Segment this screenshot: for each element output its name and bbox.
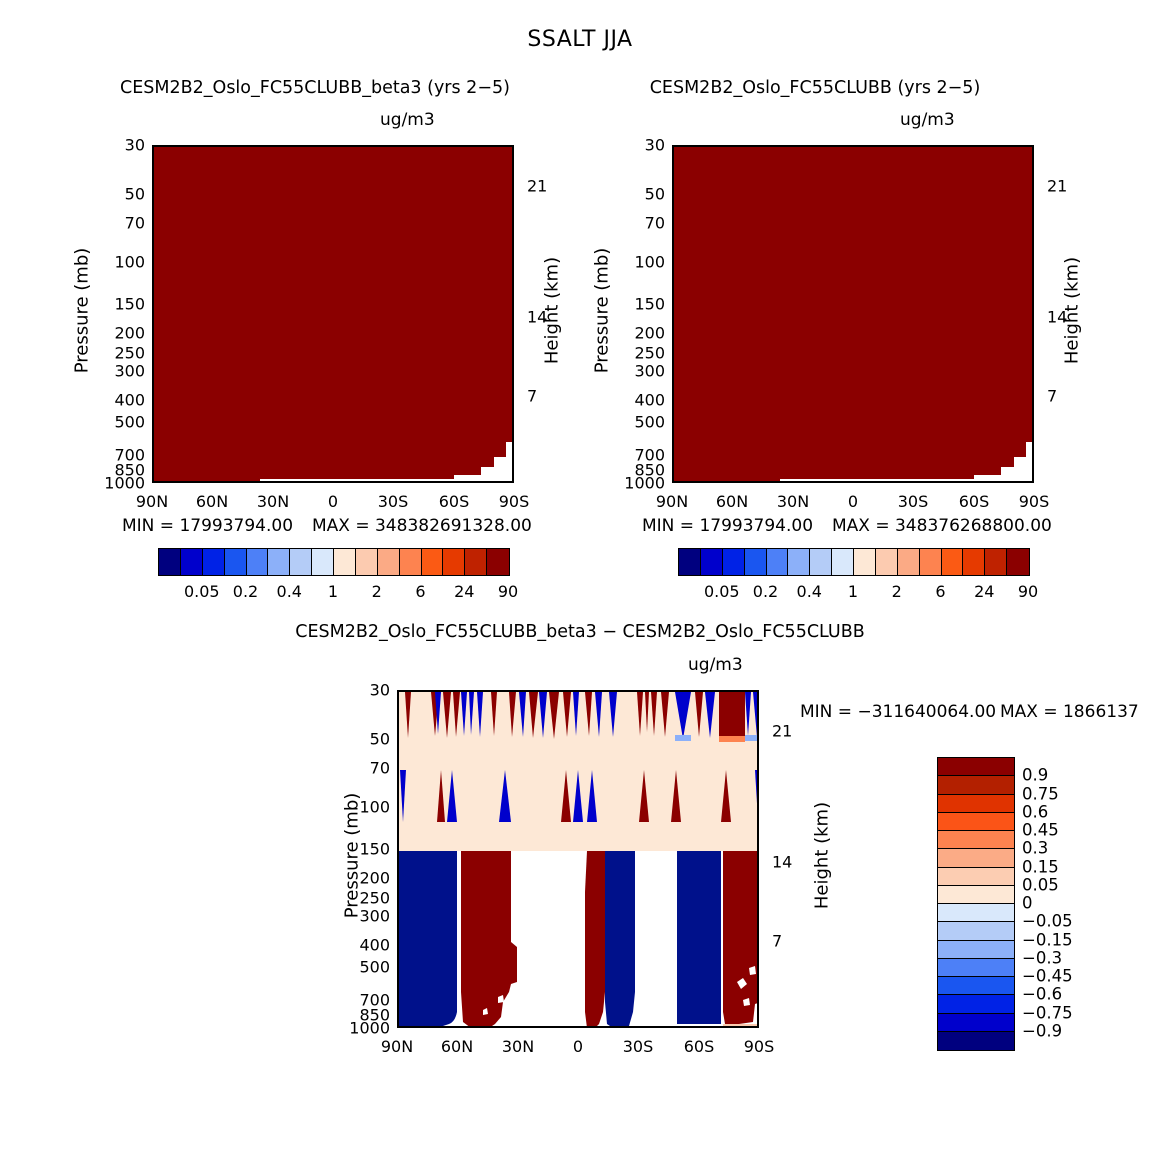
x-axis-tick xyxy=(154,145,156,147)
x-axis-tick xyxy=(701,1026,703,1028)
x-axis-minor-tick xyxy=(1006,481,1008,483)
x-axis-tick xyxy=(640,1026,642,1028)
x-axis-tick xyxy=(855,145,857,147)
panel-difference-y2-axis-title: Height (km) xyxy=(812,766,833,946)
colorbar-tick-label: 24 xyxy=(454,582,474,601)
x-axis-minor-tick xyxy=(825,481,827,483)
colorbar-tick-label: 6 xyxy=(415,582,425,601)
y2-axis-tick xyxy=(1032,398,1034,400)
x-axis-tick xyxy=(701,690,703,692)
colorbar-tick-label: 0.2 xyxy=(753,582,778,601)
x-axis-tick xyxy=(214,145,216,147)
colorbar-tick-label: 0.2 xyxy=(233,582,258,601)
x-axis-minor-tick xyxy=(671,690,673,692)
colorbar-tick-label: 2 xyxy=(372,582,382,601)
panel-top-right-plot xyxy=(672,145,1034,483)
x-axis-minor-tick xyxy=(550,690,552,692)
y-axis-tick xyxy=(672,225,674,227)
panel-top-left-height-labels: 21 14 7 xyxy=(527,145,567,475)
x-axis-minor-tick xyxy=(305,481,307,483)
colorbar-tick-label: 90 xyxy=(1018,582,1038,601)
colorbar-swatch xyxy=(356,549,378,575)
legend-swatch xyxy=(938,813,1014,831)
x-axis-minor-tick xyxy=(885,481,887,483)
x-axis-tick xyxy=(456,145,458,147)
panel-top-right-latitude-labels: 90N 60N 30N 0 30S 60S 90S xyxy=(672,492,1034,516)
y-axis-tick xyxy=(397,969,399,971)
colorbar-tick-label: 1 xyxy=(848,582,858,601)
legend-swatch xyxy=(938,941,1014,959)
colorbar-swatch xyxy=(876,549,898,575)
y-axis-tick xyxy=(672,196,674,198)
colorbar-tick-label: 24 xyxy=(974,582,994,601)
panel-top-left-min: MIN = 17993794.00 xyxy=(122,516,293,536)
x-axis-tick xyxy=(395,481,397,483)
legend-swatch xyxy=(938,904,1014,922)
y2-axis-tick xyxy=(1032,319,1034,321)
legend-swatch xyxy=(938,1014,1014,1032)
colorbar-swatch xyxy=(465,549,487,575)
colorbar-swatch xyxy=(422,549,444,575)
y2-axis-tick xyxy=(757,733,759,735)
colorbar-swatch xyxy=(400,549,422,575)
x-axis-minor-tick xyxy=(946,145,948,147)
colorbar-swatch xyxy=(487,549,509,575)
legend-swatch xyxy=(938,795,1014,813)
y-axis-tick xyxy=(152,424,154,426)
colorbar-swatch xyxy=(159,549,181,575)
x-axis-tick xyxy=(154,481,156,483)
x-axis-minor-tick xyxy=(429,1026,431,1028)
y-axis-tick xyxy=(672,472,674,474)
legend-tick-label: 0.9 xyxy=(1022,766,1048,785)
y-axis-tick xyxy=(397,1002,399,1004)
x-axis-tick xyxy=(734,145,736,147)
panel-top-right-colorbar[interactable] xyxy=(678,548,1030,576)
legend-swatch xyxy=(938,995,1014,1013)
x-axis-minor-tick xyxy=(610,1026,612,1028)
panel-difference-plot xyxy=(397,690,759,1028)
panel-top-right-units: ug/m3 xyxy=(900,110,955,130)
x-axis-minor-tick xyxy=(245,481,247,483)
x-axis-minor-tick xyxy=(550,1026,552,1028)
legend-tick-label: −0.75 xyxy=(1022,1003,1073,1022)
x-axis-minor-tick xyxy=(305,145,307,147)
colorbar-swatch xyxy=(378,549,400,575)
panel-top-left-colorbar-labels: 0.050.20.41262490 xyxy=(158,582,508,604)
legend-tick-label: 0.45 xyxy=(1022,821,1059,840)
panel-top-left-title: CESM2B2_Oslo_FC55CLUBB_beta3 (yrs 2−5) xyxy=(90,78,540,98)
legend-swatch xyxy=(938,849,1014,867)
legend-tick-label: −0.9 xyxy=(1022,1021,1062,1040)
y-axis-tick xyxy=(152,457,154,459)
colorbar-tick-label: 0.05 xyxy=(184,582,220,601)
colorbar-tick-label: 2 xyxy=(892,582,902,601)
x-axis-minor-tick xyxy=(245,145,247,147)
panel-difference-colorbar-labels: 0.90.750.60.450.30.150.050−0.05−0.15−0.3… xyxy=(1022,757,1092,1049)
y-axis-tick xyxy=(152,306,154,308)
colorbar-swatch xyxy=(203,549,225,575)
x-axis-minor-tick xyxy=(825,145,827,147)
y-axis-tick xyxy=(152,402,154,404)
legend-swatch xyxy=(938,758,1014,776)
y-axis-tick xyxy=(152,355,154,357)
y-axis-tick xyxy=(397,947,399,949)
x-axis-minor-tick xyxy=(486,145,488,147)
colorbar-swatch xyxy=(723,549,745,575)
x-axis-tick xyxy=(915,481,917,483)
legend-swatch xyxy=(938,922,1014,940)
x-axis-tick xyxy=(580,690,582,692)
colorbar-swatch xyxy=(181,549,203,575)
legend-swatch xyxy=(938,1032,1014,1050)
x-axis-tick xyxy=(275,481,277,483)
colorbar-swatch xyxy=(679,549,701,575)
panel-difference-max: MAX = 1866137 xyxy=(1000,702,1139,722)
panel-top-right-max: MAX = 348376268800.00 xyxy=(832,516,1052,536)
x-axis-tick xyxy=(214,481,216,483)
colorbar-swatch xyxy=(701,549,723,575)
x-axis-tick xyxy=(459,1026,461,1028)
y-axis-tick xyxy=(152,264,154,266)
colorbar-swatch xyxy=(963,549,985,575)
legend-swatch xyxy=(938,776,1014,794)
y-axis-tick xyxy=(397,1017,399,1019)
x-axis-minor-tick xyxy=(885,145,887,147)
legend-tick-label: 0.6 xyxy=(1022,802,1048,821)
panel-top-right-surface-mask xyxy=(674,147,1034,483)
colorbar-swatch xyxy=(312,549,334,575)
colorbar-tick-label: 0.4 xyxy=(797,582,822,601)
x-axis-tick xyxy=(915,145,917,147)
colorbar-swatch xyxy=(247,549,269,575)
panel-top-left-plot xyxy=(152,145,514,483)
y2-axis-tick xyxy=(1032,188,1034,190)
colorbar-swatch xyxy=(334,549,356,575)
x-axis-minor-tick xyxy=(426,145,428,147)
x-axis-tick xyxy=(275,145,277,147)
y2-axis-tick xyxy=(757,864,759,866)
legend-swatch xyxy=(938,886,1014,904)
y-axis-tick xyxy=(397,770,399,772)
colorbar-tick-label: 0.05 xyxy=(704,582,740,601)
panel-top-right-colorbar-labels: 0.050.20.41262490 xyxy=(678,582,1028,604)
x-axis-tick xyxy=(734,481,736,483)
panel-difference-latitude-labels: 90N 60N 30N 0 30S 60S 90S xyxy=(397,1037,759,1061)
x-axis-minor-tick xyxy=(731,690,733,692)
x-axis-tick xyxy=(399,1026,401,1028)
y-axis-tick xyxy=(152,373,154,375)
colorbar-swatch xyxy=(920,549,942,575)
colorbar-swatch xyxy=(788,549,810,575)
x-axis-minor-tick xyxy=(765,481,767,483)
x-axis-minor-tick xyxy=(671,1026,673,1028)
x-axis-minor-tick xyxy=(704,481,706,483)
panel-difference-colorbar[interactable] xyxy=(937,757,1015,1051)
colorbar-tick-label: 0.4 xyxy=(277,582,302,601)
y-axis-tick xyxy=(152,196,154,198)
panel-difference-min: MIN = −311640064.00 xyxy=(800,702,996,722)
y2-axis-tick xyxy=(512,398,514,400)
x-axis-tick xyxy=(580,1026,582,1028)
colorbar-swatch xyxy=(985,549,1007,575)
x-axis-tick xyxy=(976,481,978,483)
x-axis-tick xyxy=(335,481,337,483)
legend-swatch xyxy=(938,868,1014,886)
y-axis-tick xyxy=(152,147,154,149)
x-axis-minor-tick xyxy=(490,690,492,692)
x-axis-minor-tick xyxy=(365,145,367,147)
legend-swatch xyxy=(938,831,1014,849)
x-axis-tick xyxy=(335,145,337,147)
legend-tick-label: −0.6 xyxy=(1022,985,1062,1004)
colorbar-swatch xyxy=(290,549,312,575)
legend-tick-label: 0.75 xyxy=(1022,784,1059,803)
panel-top-left-max: MAX = 348382691328.00 xyxy=(312,516,532,536)
x-axis-minor-tick xyxy=(486,481,488,483)
panel-difference-height-labels: 21 14 7 xyxy=(772,690,812,1020)
panel-top-left-latitude-labels: 90N 60N 30N 0 30S 60S 90S xyxy=(152,492,514,516)
y-axis-tick xyxy=(397,880,399,882)
x-axis-minor-tick xyxy=(365,481,367,483)
colorbar-tick-label: 90 xyxy=(498,582,518,601)
x-axis-tick xyxy=(855,481,857,483)
legend-tick-label: −0.15 xyxy=(1022,930,1073,949)
x-axis-tick xyxy=(520,690,522,692)
x-axis-minor-tick xyxy=(184,481,186,483)
y-axis-tick xyxy=(397,741,399,743)
legend-tick-label: 0.3 xyxy=(1022,839,1048,858)
x-axis-tick xyxy=(395,145,397,147)
y-axis-tick xyxy=(397,900,399,902)
colorbar-swatch xyxy=(898,549,920,575)
x-axis-minor-tick xyxy=(765,145,767,147)
y-axis-tick xyxy=(397,692,399,694)
colorbar-swatch xyxy=(1007,549,1029,575)
y2-axis-tick xyxy=(512,319,514,321)
y-axis-tick xyxy=(152,472,154,474)
colorbar-swatch xyxy=(767,549,789,575)
panel-difference-units: ug/m3 xyxy=(688,655,743,675)
panel-top-left-units: ug/m3 xyxy=(380,110,435,130)
panel-top-left-pressure-labels: 30 50 70 100 150 200 250 300 400 500 700… xyxy=(100,145,145,475)
colorbar-swatch xyxy=(832,549,854,575)
y2-axis-tick xyxy=(512,188,514,190)
page-title: SSALT JJA xyxy=(0,27,1160,52)
diff-contour-shapes xyxy=(399,692,759,1028)
panel-top-right-title: CESM2B2_Oslo_FC55CLUBB (yrs 2−5) xyxy=(600,78,1030,98)
colorbar-swatch xyxy=(443,549,465,575)
panel-difference-pressure-labels: 30 50 70 100 150 200 250 300 400 500 700… xyxy=(345,690,390,1020)
x-axis-tick xyxy=(976,145,978,147)
y-axis-tick xyxy=(672,373,674,375)
panel-top-right-height-labels: 21 14 7 xyxy=(1047,145,1087,475)
y-axis-tick xyxy=(672,402,674,404)
y-axis-tick xyxy=(152,225,154,227)
panel-difference-title: CESM2B2_Oslo_FC55CLUBB_beta3 − CESM2B2_O… xyxy=(230,622,930,642)
y-axis-tick xyxy=(672,335,674,337)
y-axis-tick xyxy=(672,355,674,357)
colorbar-swatch xyxy=(942,549,964,575)
panel-top-right-min: MIN = 17993794.00 xyxy=(642,516,813,536)
colorbar-swatch xyxy=(810,549,832,575)
legend-tick-label: −0.05 xyxy=(1022,912,1073,931)
y-axis-tick xyxy=(672,457,674,459)
panel-top-left-surface-mask xyxy=(154,147,514,483)
x-axis-tick xyxy=(456,481,458,483)
legend-swatch xyxy=(938,959,1014,977)
legend-swatch xyxy=(938,977,1014,995)
legend-tick-label: 0.05 xyxy=(1022,875,1059,894)
x-axis-minor-tick xyxy=(731,1026,733,1028)
panel-top-left-y-axis-title: Pressure (mb) xyxy=(72,221,93,401)
panel-top-left-colorbar[interactable] xyxy=(158,548,510,576)
x-axis-minor-tick xyxy=(490,1026,492,1028)
colorbar-tick-label: 1 xyxy=(328,582,338,601)
y-axis-tick xyxy=(672,147,674,149)
x-axis-tick xyxy=(459,690,461,692)
x-axis-minor-tick xyxy=(1006,145,1008,147)
x-axis-tick xyxy=(399,690,401,692)
x-axis-minor-tick xyxy=(704,145,706,147)
x-axis-tick xyxy=(795,481,797,483)
x-axis-minor-tick xyxy=(946,481,948,483)
colorbar-swatch xyxy=(854,549,876,575)
legend-tick-label: −0.45 xyxy=(1022,967,1073,986)
x-axis-tick xyxy=(520,1026,522,1028)
x-axis-tick xyxy=(674,481,676,483)
legend-tick-label: 0.15 xyxy=(1022,857,1059,876)
x-axis-minor-tick xyxy=(426,481,428,483)
y-axis-tick xyxy=(397,809,399,811)
y-axis-tick xyxy=(397,918,399,920)
legend-tick-label: −0.3 xyxy=(1022,948,1062,967)
x-axis-minor-tick xyxy=(184,145,186,147)
y-axis-tick xyxy=(672,264,674,266)
x-axis-minor-tick xyxy=(429,690,431,692)
y-axis-tick xyxy=(672,424,674,426)
panel-top-right-pressure-labels: 30 50 70 100 150 200 250 300 400 500 700… xyxy=(620,145,665,475)
legend-tick-label: 0 xyxy=(1022,894,1033,913)
colorbar-tick-label: 6 xyxy=(935,582,945,601)
colorbar-swatch xyxy=(268,549,290,575)
y2-axis-tick xyxy=(757,943,759,945)
colorbar-swatch xyxy=(225,549,247,575)
x-axis-tick xyxy=(795,145,797,147)
panel-top-right-y-axis-title: Pressure (mb) xyxy=(592,221,613,401)
x-axis-minor-tick xyxy=(610,690,612,692)
colorbar-swatch xyxy=(745,549,767,575)
y-axis-tick xyxy=(397,851,399,853)
y-axis-tick xyxy=(672,306,674,308)
x-axis-tick xyxy=(674,145,676,147)
y-axis-tick xyxy=(152,335,154,337)
x-axis-tick xyxy=(640,690,642,692)
